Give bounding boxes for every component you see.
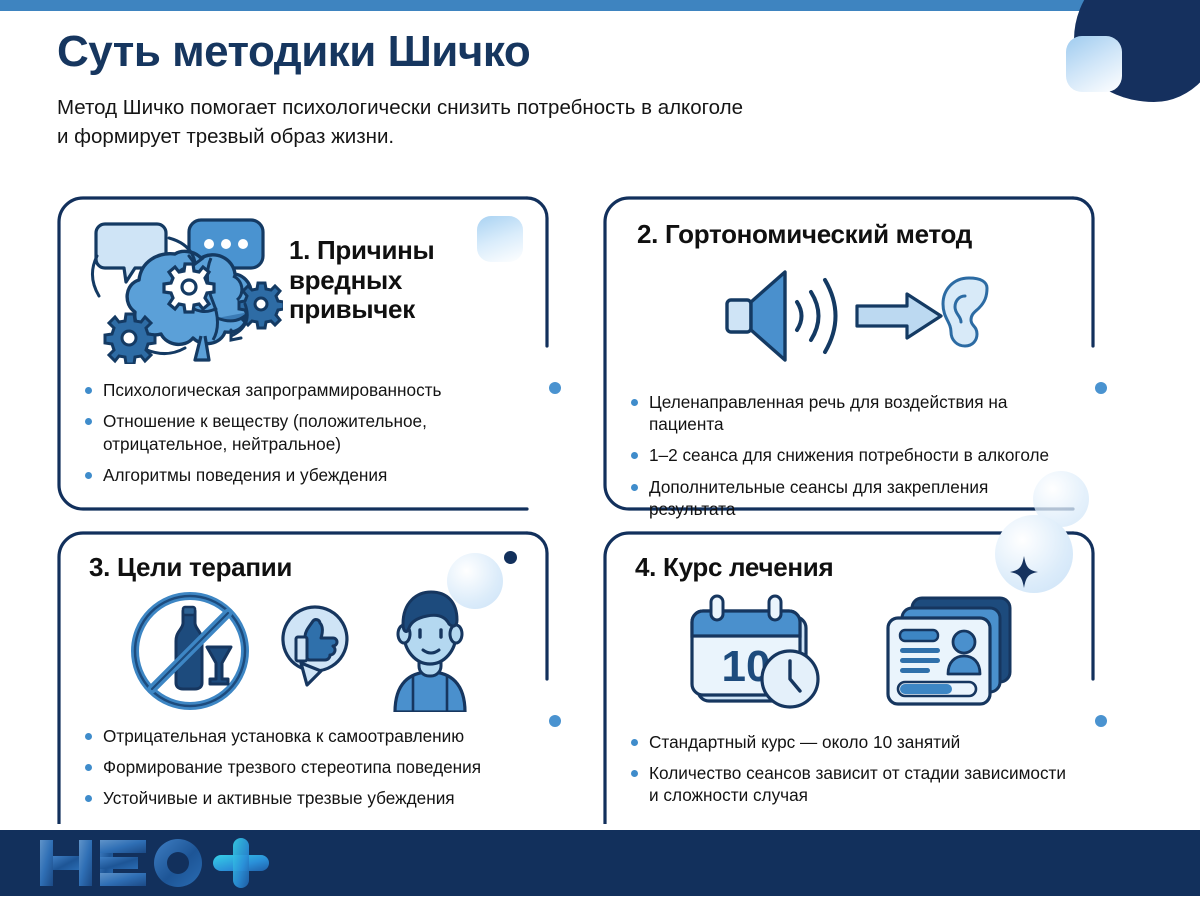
speaker-arrow-ear-icon — [701, 266, 1001, 371]
card-hortonomic-method[interactable]: 2. Гортономический метод — [603, 196, 1095, 511]
card-decor-dot — [1095, 715, 1107, 727]
list-item: 1–2 сеанса для снижения потребности в ал… — [629, 444, 1073, 466]
card-bullets: Психологическая запрограммированность От… — [83, 379, 527, 486]
card-bullets: Отрицательная установка к самоотравлению… — [83, 725, 527, 810]
list-item: Отношение к веществу (положительное, отр… — [83, 410, 527, 455]
brain-gears-speech-icon — [83, 214, 283, 369]
card-bullets: Целенаправленная речь для воздействия на… — [629, 391, 1073, 521]
card-bullets: Стандартный курс — около 10 занятий Коли… — [629, 731, 1073, 807]
card-title: 3. Цели терапии — [83, 549, 527, 583]
brand-logo — [38, 836, 318, 897]
cards-grid: 1. Причины вредных привычек Психологичес… — [57, 196, 1147, 831]
page-subtitle: Метод Шичко помогает психологически сниз… — [57, 93, 847, 151]
person-icon — [375, 590, 485, 717]
card-decor-dot — [1095, 382, 1107, 394]
card-treatment-course[interactable]: 4. Курс лечения 10 — [603, 531, 1095, 831]
header: Суть методики Шичко Метод Шичко помогает… — [57, 28, 1017, 151]
list-item: Стандартный курс — около 10 занятий — [629, 731, 1073, 753]
list-item: Отрицательная установка к самоотравлению — [83, 725, 527, 747]
card-title: 2. Гортономический метод — [629, 214, 1073, 250]
corner-gradient-square — [1066, 36, 1122, 92]
list-item: Психологическая запрограммированность — [83, 379, 527, 401]
card-title: 4. Курс лечения — [629, 549, 1073, 583]
card-decor-dot — [549, 715, 561, 727]
card-therapy-goals[interactable]: 3. Цели терапии — [57, 531, 549, 831]
patient-cards-icon — [878, 592, 1018, 719]
page-subtitle-line-1: Метод Шичко помогает психологически сниз… — [57, 93, 847, 122]
footer-bar — [0, 830, 1200, 896]
list-item: Целенаправленная речь для воздействия на… — [629, 391, 1073, 436]
top-accent-bar — [0, 0, 1200, 11]
list-item: Формирование трезвого стереотипа поведен… — [83, 756, 527, 778]
thumbs-up-bubble-icon — [279, 601, 351, 706]
card-title: 1. Причины вредных привычек — [289, 214, 519, 325]
page-subtitle-line-2: и формирует трезвый образ жизни. — [57, 122, 847, 151]
card-decor-dot — [549, 382, 561, 394]
list-item: Количество сеансов зависит от стадии зав… — [629, 762, 1073, 807]
page-title: Суть методики Шичко — [57, 28, 1017, 76]
list-item: Алгоритмы поведения и убеждения — [83, 464, 527, 486]
card-causes[interactable]: 1. Причины вредных привычек Психологичес… — [57, 196, 549, 511]
calendar-clock-icon: 10 — [684, 591, 834, 721]
list-item: Дополнительные сеансы для закрепления ре… — [629, 476, 1073, 521]
no-alcohol-icon — [125, 589, 255, 719]
list-item: Устойчивые и активные трезвые убеждения — [83, 787, 527, 809]
